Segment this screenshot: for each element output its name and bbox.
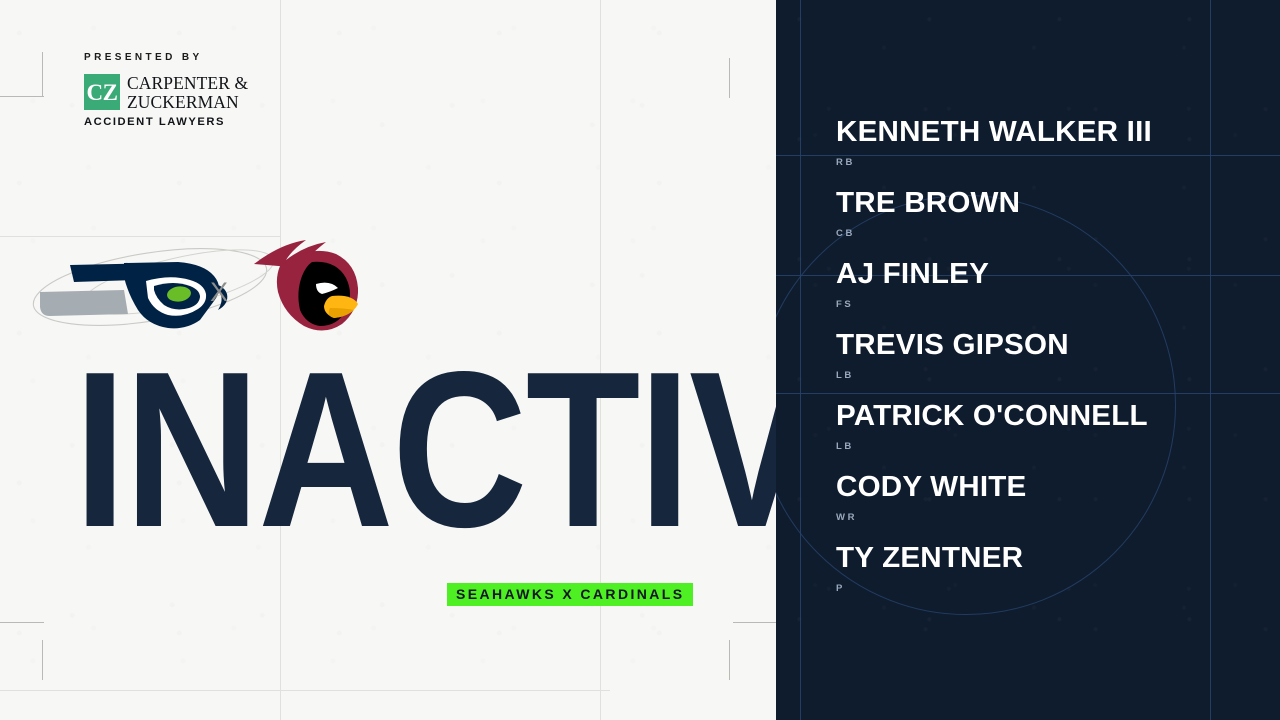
page-title: INACTIVES (74, 347, 776, 553)
player-row: CODY WHITE WR (836, 473, 1023, 523)
matchup-tag: SEAHAWKS X CARDINALS (447, 583, 693, 606)
player-position: WR (836, 513, 1023, 523)
matchup-separator: X (210, 279, 228, 306)
player-position: RB (836, 158, 1146, 168)
seahawks-logo-icon (40, 262, 227, 328)
player-name: PATRICK O'CONNELL (836, 402, 1148, 431)
cz-monogram-icon: CZ (84, 74, 120, 110)
player-position: P (836, 584, 1020, 594)
player-row: TRE BROWN CB (836, 189, 1017, 239)
panel-grid-horizontal-3 (776, 393, 1280, 394)
tick-mark-bottom-right-horizontal (733, 622, 776, 623)
sponsor-name-block: CARPENTER & ZUCKERMAN (127, 74, 248, 111)
grid-line-horizontal-1 (0, 690, 610, 691)
player-row: AJ FINLEY FS (836, 260, 986, 310)
sponsor-name-line-1: CARPENTER & (127, 74, 248, 93)
tick-mark-top-left-vertical (42, 52, 43, 96)
panel-grid-vertical-2 (1210, 0, 1211, 720)
player-name: AJ FINLEY (836, 260, 989, 289)
tick-mark-bottom-left-vertical (42, 640, 43, 680)
player-row: TY ZENTNER P (836, 544, 1020, 594)
tick-mark-bottom-left-horizontal (0, 622, 44, 623)
presented-by-label: PRESENTED BY (84, 52, 248, 63)
sponsor-name-line-2: ZUCKERMAN (127, 93, 248, 112)
player-name: KENNETH WALKER III (836, 118, 1152, 147)
tick-mark-bottom-right-vertical (729, 640, 730, 680)
tick-mark-top-right-vertical (729, 58, 730, 98)
player-row: TREVIS GIPSON LB (836, 331, 1064, 381)
tick-mark-top-left-horizontal (0, 96, 44, 97)
sponsor-tagline: ACCIDENT LAWYERS (84, 116, 248, 128)
player-position: LB (836, 371, 1064, 381)
left-panel: PRESENTED BY CZ CARPENTER & ZUCKERMAN AC… (0, 0, 776, 720)
cardinals-logo-icon (254, 240, 358, 331)
sponsor-lockup: PRESENTED BY CZ CARPENTER & ZUCKERMAN AC… (84, 52, 248, 128)
player-name: TRE BROWN (836, 189, 1020, 218)
player-position: LB (836, 442, 1142, 452)
panel-grid-vertical-1 (800, 0, 801, 720)
player-row: KENNETH WALKER III RB (836, 118, 1146, 168)
player-position: CB (836, 229, 1017, 239)
player-name: TY ZENTNER (836, 544, 1023, 573)
player-position: FS (836, 300, 986, 310)
carpenter-zuckerman-logo: CZ CARPENTER & ZUCKERMAN (84, 74, 248, 111)
player-name: TREVIS GIPSON (836, 331, 1069, 360)
player-name: CODY WHITE (836, 473, 1026, 502)
player-row: PATRICK O'CONNELL LB (836, 402, 1142, 452)
cz-monogram-text: CZ (87, 81, 118, 104)
inactives-graphic: PRESENTED BY CZ CARPENTER & ZUCKERMAN AC… (0, 0, 1280, 720)
